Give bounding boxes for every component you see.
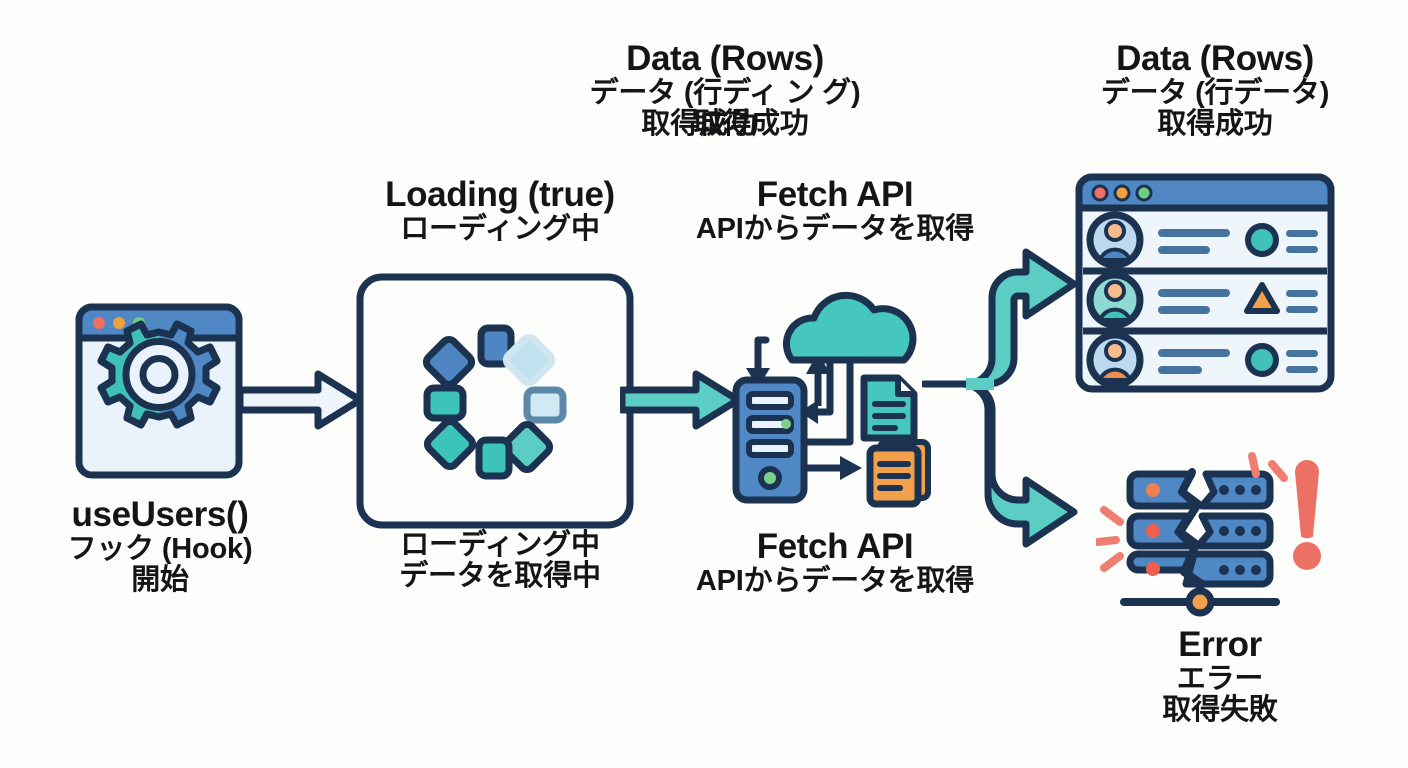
label-error: Error エラー 取得失敗 (1100, 626, 1340, 726)
label-data-rows-middle-jp2-b: 取得成功 (586, 109, 916, 140)
label-use-users-hook-en: useUsers() (25, 496, 295, 534)
label-use-users-hook: useUsers() フック (Hook) 開始 (25, 496, 295, 596)
label-error-en: Error (1100, 626, 1340, 664)
label-data-rows-middle-overlap: 取得成功 取得成功 (560, 109, 890, 141)
arrow-fetch-branch-icon (922, 248, 1084, 560)
arrow-hook-to-loading-icon (238, 366, 364, 434)
label-error-jp2: 取得失敗 (1100, 695, 1340, 726)
label-loading-bottom: ローディング中 データを取得中 (345, 530, 655, 593)
label-data-rows-success-en: Data (Rows) (1035, 40, 1395, 78)
label-data-rows-success-jp: データ (行データ) (1035, 78, 1395, 109)
label-loading-bottom-jp: ローディング中 (345, 530, 655, 561)
loading-state-box (355, 272, 635, 530)
label-data-rows-middle-en: Data (Rows) (560, 40, 890, 78)
label-data-rows-success: Data (Rows) データ (行データ) 取得成功 (1035, 40, 1395, 140)
label-loading-top-en: Loading (true) (345, 176, 655, 214)
label-loading-top-jp: ローディング中 (345, 214, 655, 245)
label-loading-bottom-jp2: データを取得中 (345, 561, 655, 592)
user-table-window-icon (1074, 172, 1336, 394)
label-data-rows-middle: Data (Rows) データ (行ディ ン グ) 取得成功 取得成功 (560, 40, 890, 141)
broken-server-icon (1096, 444, 1326, 622)
label-fetch-api-top: Fetch API APIからデータを取得 (670, 176, 1000, 245)
label-error-jp: エラー (1100, 664, 1340, 695)
label-fetch-api-top-en: Fetch API (670, 176, 1000, 214)
label-data-rows-middle-jp: データ (行ディ ン グ) (560, 78, 890, 109)
label-data-rows-success-jp2: 取得成功 (1035, 109, 1395, 140)
label-fetch-api-top-jp: APIからデータを取得 (670, 214, 1000, 245)
browser-gear-icon (74, 302, 244, 480)
label-loading-top: Loading (true) ローディング中 (345, 176, 655, 245)
label-use-users-hook-jp: フック (Hook) (25, 534, 295, 565)
label-fetch-api-bottom-jp: APIからデータを取得 (670, 566, 1000, 597)
label-use-users-hook-jp2: 開始 (25, 565, 295, 596)
cloud-server-documents-icon (722, 282, 938, 510)
diagram-canvas: Data (Rows) データ (行ディ ン グ) 取得成功 取得成功 Data… (0, 0, 1408, 768)
